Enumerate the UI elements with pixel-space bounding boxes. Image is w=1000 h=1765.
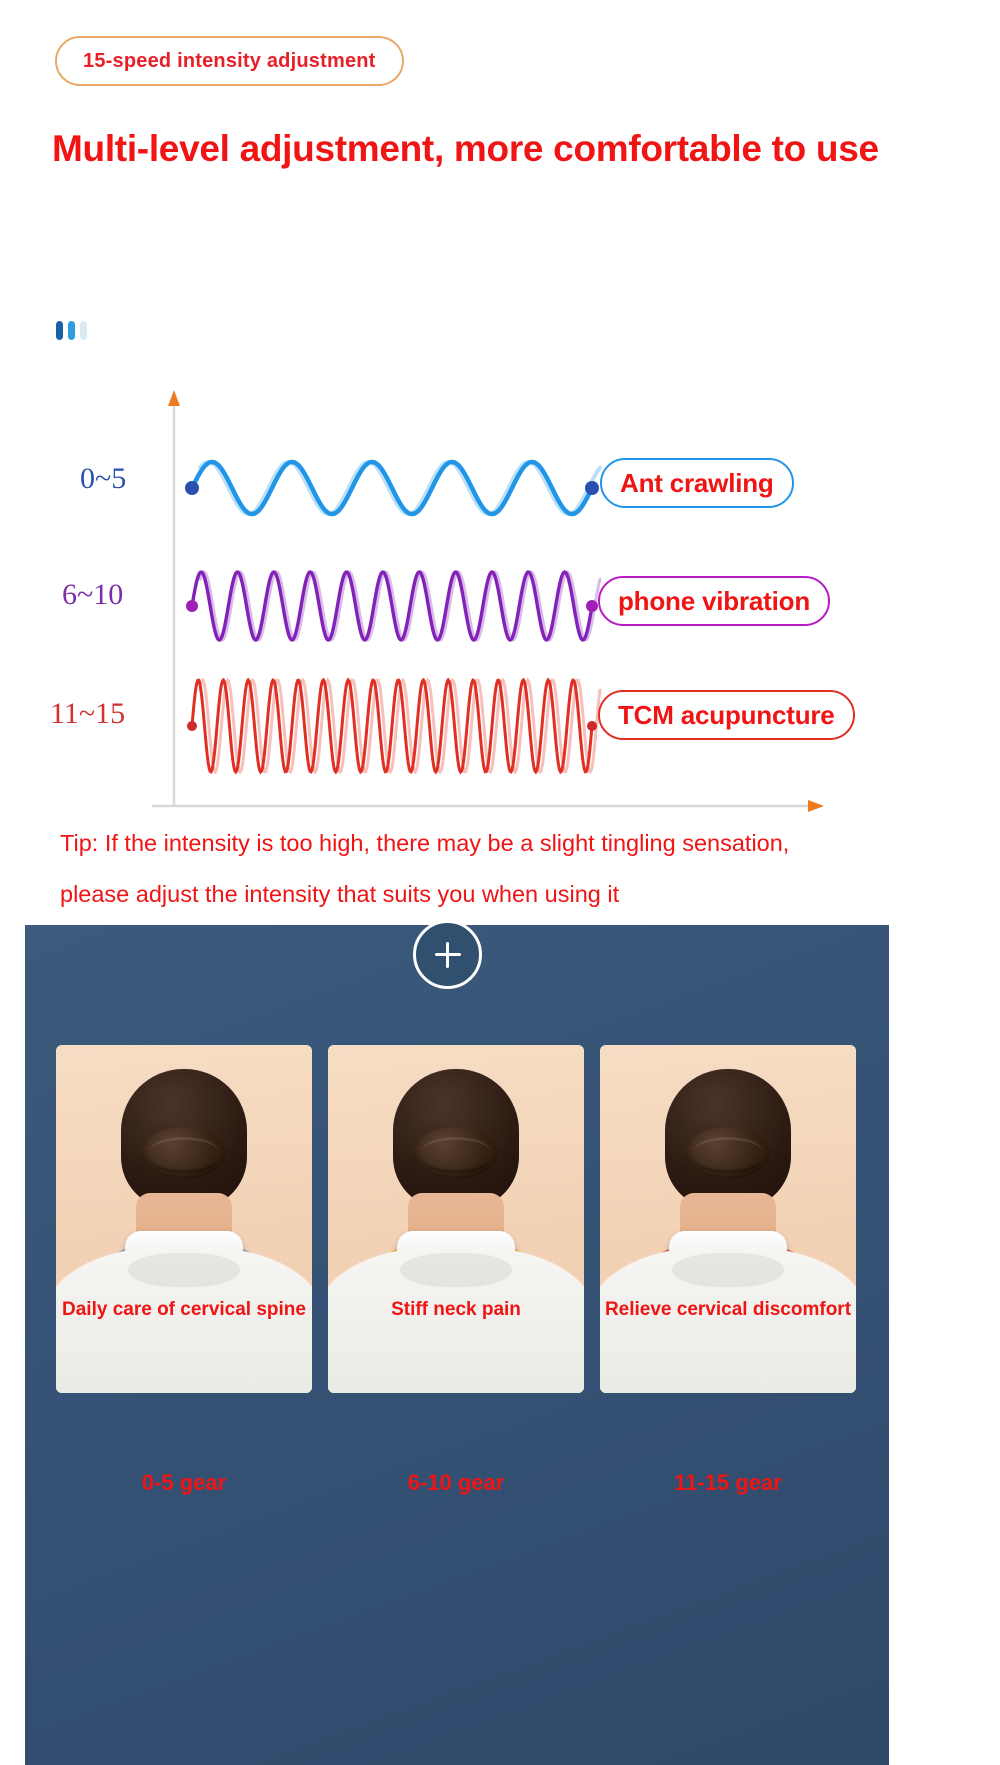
signal-bar-1 — [56, 321, 63, 340]
legend-pill-phone-vibration: phone vibration — [598, 576, 830, 626]
waveform-series-group — [185, 462, 600, 772]
gear-label-2: 11-15 gear — [600, 1470, 856, 1496]
card-caption-2: Relieve cervical discomfort — [600, 1297, 856, 1323]
hair-bun-detail — [693, 1137, 763, 1173]
card-caption-1: Stiff neck pain — [328, 1297, 584, 1323]
waveform-line-1 — [192, 572, 592, 640]
usage-card-1[interactable] — [328, 1045, 584, 1393]
tip-text: Tip: If the intensity is too high, there… — [60, 818, 880, 920]
product-detail-page: 15-speed intensity adjustment Multi-leve… — [0, 0, 889, 1765]
legend-label-1: phone vibration — [618, 586, 810, 617]
legend-label-0: Ant crawling — [620, 468, 774, 499]
speed-badge: 15-speed intensity adjustment — [55, 36, 404, 86]
speed-badge-label: 15-speed intensity adjustment — [83, 50, 376, 73]
tip-line-2: please adjust the intensity that suits y… — [60, 869, 880, 920]
hair-bun-detail — [421, 1137, 491, 1173]
series-label-0: 0~5 — [80, 462, 126, 496]
legend-pill-ant-crawling: Ant crawling — [600, 458, 794, 508]
waveform-endpoint-1-1 — [586, 600, 598, 612]
series-label-2: 11~15 — [50, 697, 125, 731]
legend-label-2: TCM acupuncture — [618, 700, 835, 731]
gear-label-1: 6-10 gear — [328, 1470, 584, 1496]
waveform-endpoint-0-1 — [585, 481, 599, 495]
expand-plus-button[interactable] — [413, 920, 482, 989]
waveform-endpoint-2-1 — [587, 721, 597, 731]
gear-label-0: 0-5 gear — [56, 1470, 312, 1496]
waveform-endpoint-1-0 — [186, 600, 198, 612]
usage-card-0[interactable] — [56, 1045, 312, 1393]
tip-line-1: Tip: If the intensity is too high, there… — [60, 830, 789, 856]
signal-bars-icon — [56, 318, 87, 340]
usage-card-2[interactable] — [600, 1045, 856, 1393]
page-title: Multi-level adjustment, more comfortable… — [52, 128, 882, 171]
waveform-endpoint-2-0 — [187, 721, 197, 731]
hair-bun-detail — [149, 1137, 219, 1173]
waveform-line-0 — [192, 462, 592, 514]
signal-bar-2 — [68, 321, 75, 340]
usage-photo-panel: Daily care of cervical spine Stiff neck … — [25, 925, 889, 1765]
series-label-1: 6~10 — [62, 578, 123, 612]
y-axis-arrow-icon — [168, 390, 180, 406]
waveform-endpoint-0-0 — [185, 481, 199, 495]
x-axis-arrow-icon — [808, 800, 824, 812]
legend-pill-tcm-acupuncture: TCM acupuncture — [598, 690, 855, 740]
signal-bar-3 — [80, 321, 87, 340]
right-gutter — [889, 0, 1000, 1765]
card-caption-0: Daily care of cervical spine — [56, 1297, 312, 1323]
usage-cards — [56, 1045, 856, 1645]
